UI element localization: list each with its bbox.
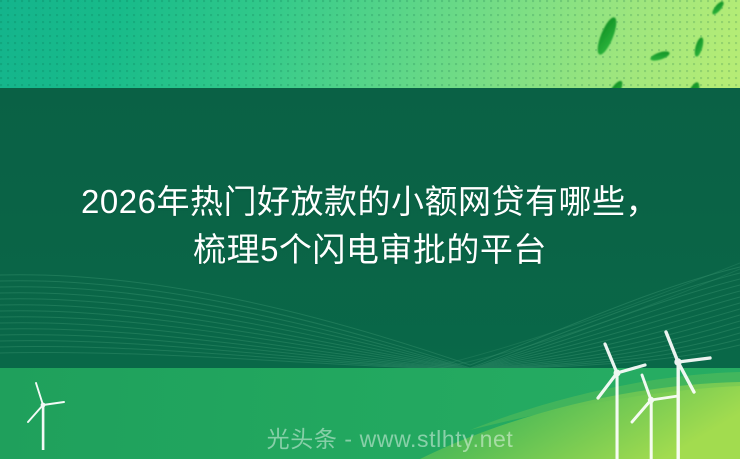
- site-watermark: 光头条 - www.stlhty.net: [0, 424, 740, 454]
- banner-headline: 2026年热门好放款的小额网贷有哪些， 梳理5个闪电审批的平台: [0, 178, 740, 274]
- promo-banner: 2026年热门好放款的小额网贷有哪些， 梳理5个闪电审批的平台 光头条 - ww…: [0, 0, 740, 459]
